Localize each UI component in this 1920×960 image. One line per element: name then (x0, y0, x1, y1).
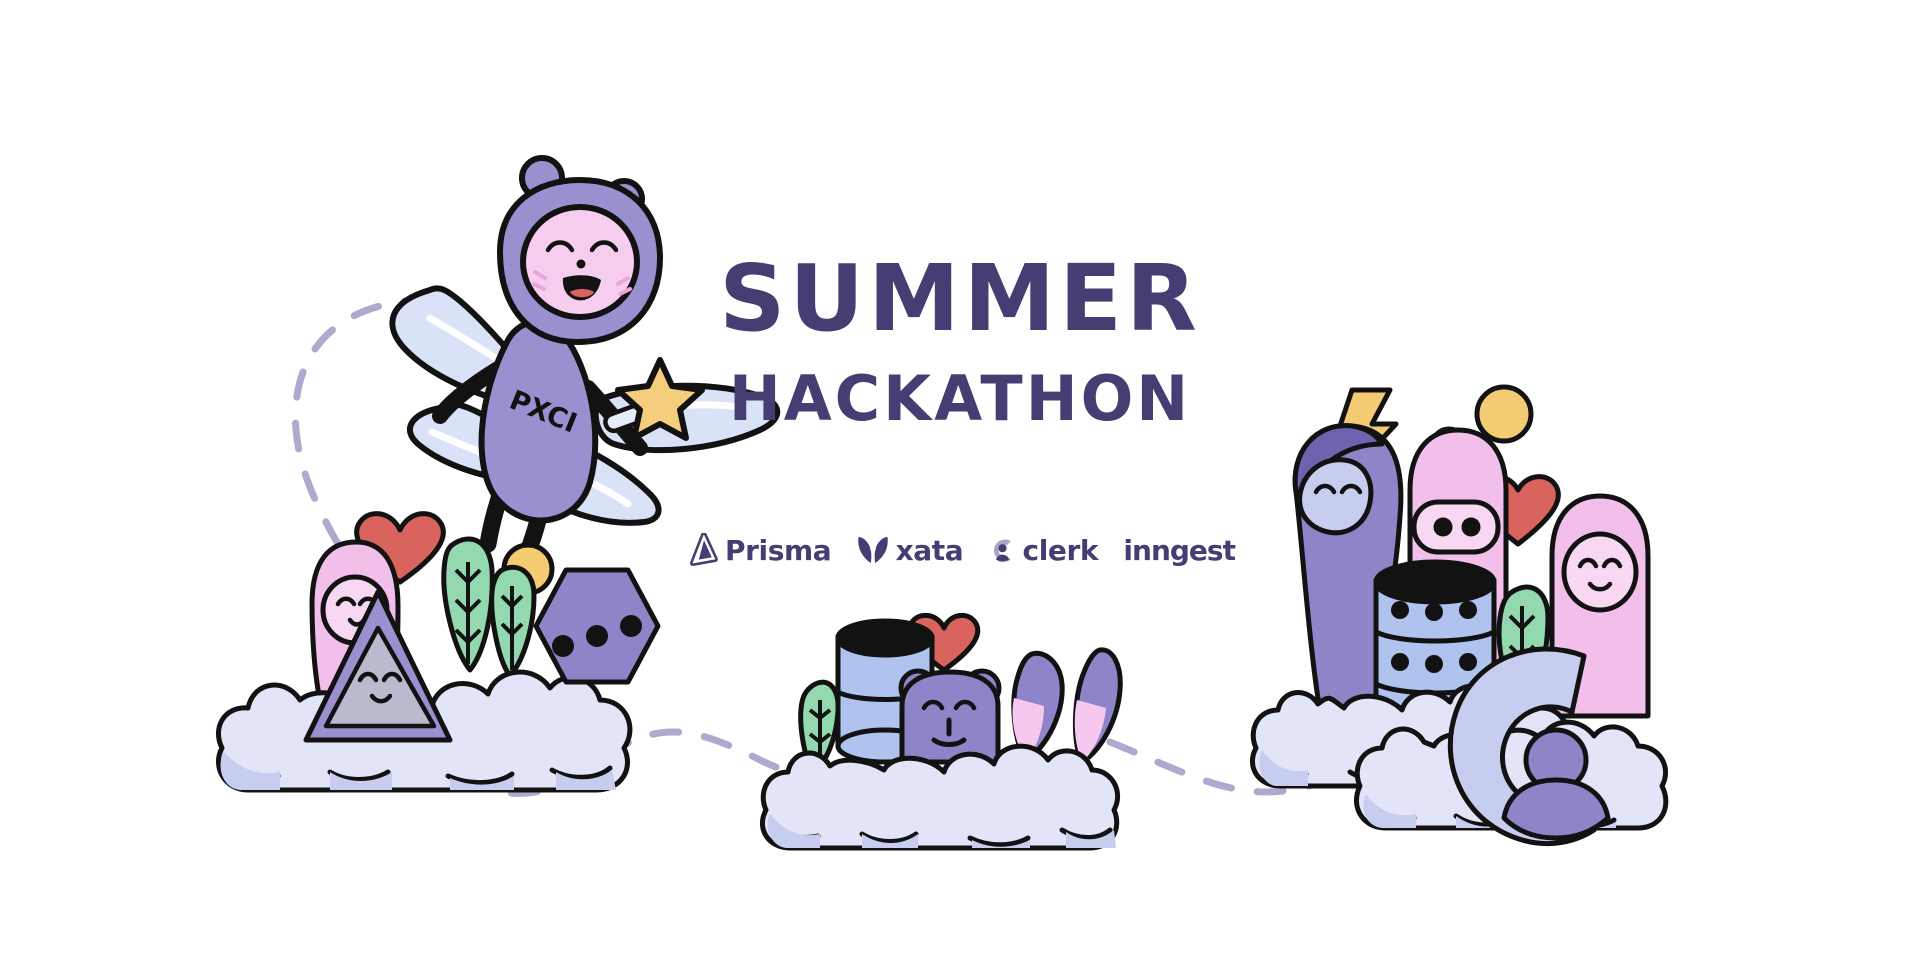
hackathon-banner: .ink { stroke:#121212; stroke-width:6; s… (0, 0, 1920, 960)
prisma-triangle-icon (690, 533, 718, 567)
sponsor-clerk[interactable]: clerk (989, 534, 1099, 567)
page-title-hackathon: HACKATHON (690, 368, 1230, 430)
xata-butterfly-icon (857, 535, 889, 565)
clerk-person-icon (989, 537, 1016, 564)
middle-cloud-scene (762, 615, 1120, 848)
fairy-head (500, 180, 660, 342)
sponsor-inngest[interactable]: inngest (1123, 534, 1235, 567)
purple-hexagon-dots (536, 570, 658, 682)
sponsor-inngest-label: inngest (1123, 534, 1235, 567)
yellow-circle-large (1477, 387, 1531, 441)
right-cloud-scene (1252, 387, 1665, 844)
sponsor-prisma-label: Prisma (725, 534, 831, 567)
sponsor-logo-row: Prisma xata clerk (690, 533, 1235, 567)
illustration-layer: .ink { stroke:#121212; stroke-width:6; s… (0, 0, 1920, 960)
left-cloud-scene (218, 514, 658, 790)
sponsor-prisma[interactable]: Prisma (690, 533, 831, 567)
page-title-summer: SUMMER (690, 255, 1230, 342)
purple-bear-character (901, 671, 999, 762)
sponsor-xata-label: xata (896, 534, 964, 567)
title-block: SUMMER HACKATHON (690, 255, 1230, 430)
sponsor-clerk-label: clerk (1023, 534, 1099, 567)
sponsor-xata[interactable]: xata (857, 534, 964, 567)
